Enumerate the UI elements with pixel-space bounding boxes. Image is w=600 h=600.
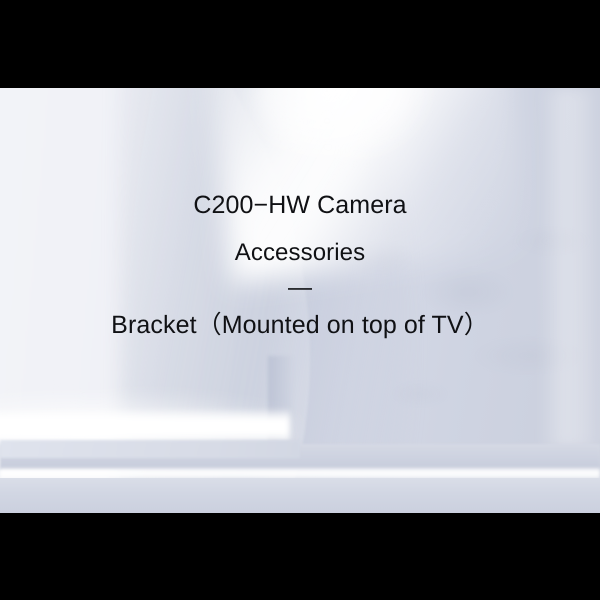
caption-product-name: C200−HW Camera: [193, 192, 406, 219]
letterbox-bar-top: [0, 0, 600, 88]
caption-category: Accessories: [235, 240, 365, 266]
video-frame: C200−HW Camera Accessories — Bracket（Mou…: [0, 0, 600, 600]
scene-photo: C200−HW Camera Accessories — Bracket（Mou…: [0, 88, 600, 513]
letterbox-bar-bottom: [0, 513, 600, 600]
caption-separator-dash: —: [288, 276, 312, 300]
title-caption-block: C200−HW Camera Accessories — Bracket（Mou…: [0, 88, 600, 513]
caption-accessory-description: Bracket（Mounted on top of TV）: [111, 312, 489, 339]
